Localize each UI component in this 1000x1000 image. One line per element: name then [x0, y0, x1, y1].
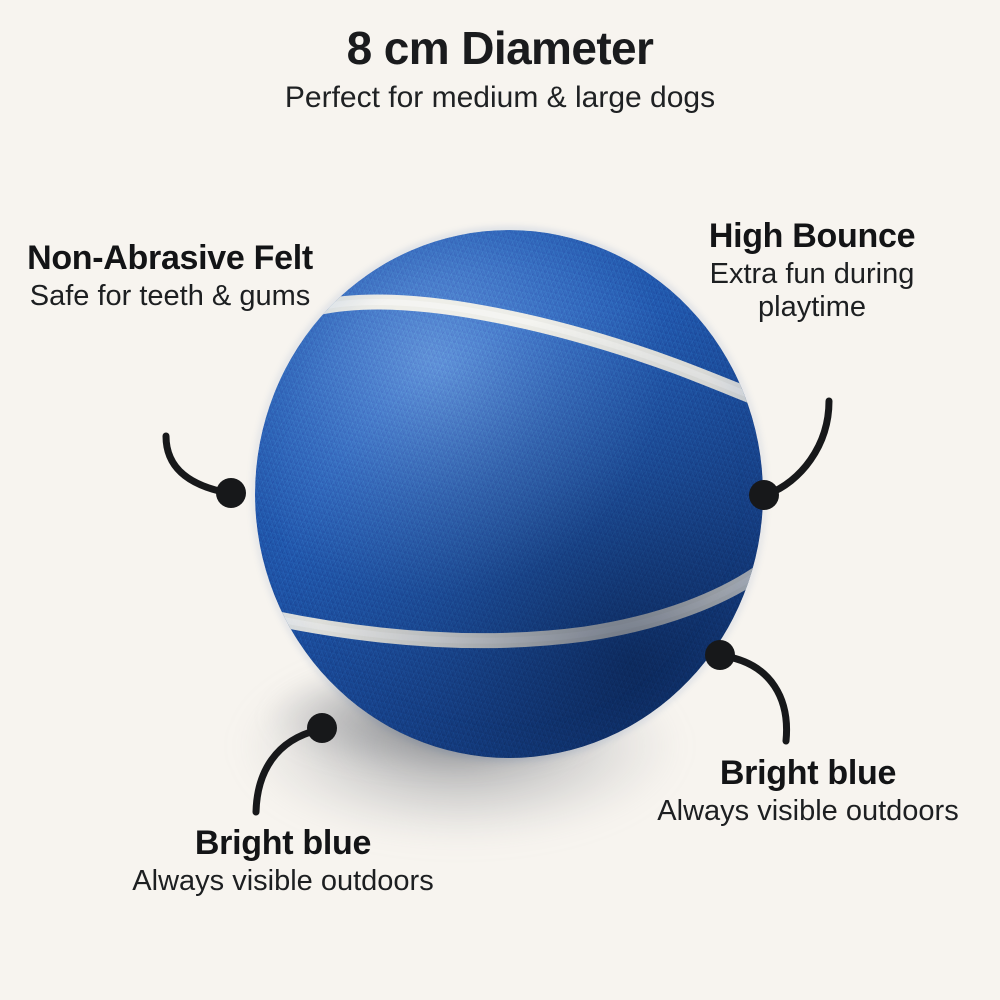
product-infographic: 8 cm Diameter Perfect for medium & large…: [0, 0, 1000, 1000]
callout-non-abrasive-felt: Non-Abrasive Felt Safe for teeth & gums: [10, 240, 330, 313]
callout-bright-blue-right: Bright blue Always visible outdoors: [648, 755, 968, 828]
callout-body: Safe for teeth & gums: [10, 280, 330, 313]
callout-title: Non-Abrasive Felt: [10, 240, 330, 277]
callout-body: Extra fun during playtime: [662, 258, 962, 324]
callout-title: Bright blue: [118, 825, 448, 862]
callout-high-bounce: High Bounce Extra fun during playtime: [662, 218, 962, 324]
callout-body: Always visible outdoors: [118, 865, 448, 898]
callout-title: High Bounce: [662, 218, 962, 255]
callout-bright-blue-left: Bright blue Always visible outdoors: [118, 825, 448, 898]
callout-body: Always visible outdoors: [648, 795, 968, 828]
callout-title: Bright blue: [648, 755, 968, 792]
